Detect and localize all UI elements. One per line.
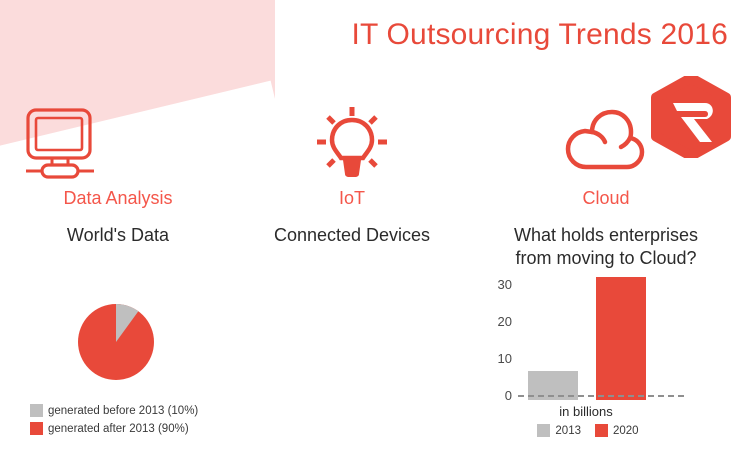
section-iot: IoT Connected Devices 30 20 10 0 in bill… xyxy=(236,0,468,450)
lightbulb-icon xyxy=(236,104,468,180)
section-data-analysis: Data Analysis World's Data generated bef… xyxy=(0,0,236,450)
section-subtitle-cloud: What holds enterprises from moving to Cl… xyxy=(468,224,744,270)
section-subtitle-iot: Connected Devices xyxy=(236,224,468,247)
legend-item-before-2013: generated before 2013 (10%) xyxy=(30,404,198,417)
infographic-canvas: IT Outsourcing Trends 2016 Data Analysis… xyxy=(0,0,744,450)
legend-item-after-2013: generated after 2013 (90%) xyxy=(30,422,189,435)
pie-chart-worlds-data xyxy=(78,304,154,380)
legend-label-before-2013: generated before 2013 (10%) xyxy=(48,405,198,417)
cloud-icon xyxy=(468,104,744,180)
section-cloud: Cloud What holds enterprises from moving… xyxy=(468,0,744,450)
monitor-icon xyxy=(0,104,236,180)
legend-swatch-gray xyxy=(30,404,43,417)
section-title-data-analysis: Data Analysis xyxy=(0,188,236,209)
legend-label-after-2013: generated after 2013 (90%) xyxy=(48,423,189,435)
section-subtitle-data-analysis: World's Data xyxy=(0,224,236,247)
section-title-cloud: Cloud xyxy=(468,188,744,209)
section-subtitle-cloud-line2: from moving to Cloud? xyxy=(515,248,696,268)
section-title-iot: IoT xyxy=(236,188,468,209)
pie-legend: generated before 2013 (10%) generated af… xyxy=(0,404,236,440)
section-subtitle-cloud-line1: What holds enterprises xyxy=(514,225,698,245)
legend-swatch-red xyxy=(30,422,43,435)
